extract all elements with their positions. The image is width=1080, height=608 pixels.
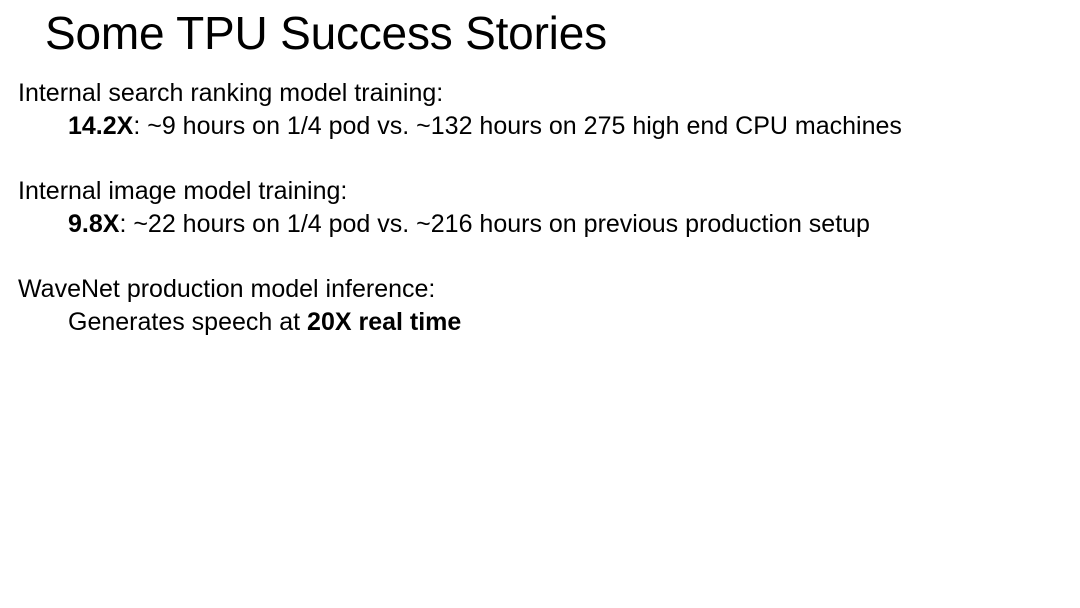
block-2-detail-text: : ~22 hours on 1/4 pod vs. ~216 hours on… [119, 210, 870, 238]
page-title: Some TPU Success Stories [45, 6, 607, 60]
slide-canvas: Some TPU Success Stories Internal search… [0, 0, 1080, 608]
block-2-detail-line: 9.8X: ~22 hours on 1/4 pod vs. ~216 hour… [68, 208, 1058, 241]
block-1-detail-text: : ~9 hours on 1/4 pod vs. ~132 hours on … [133, 112, 902, 140]
success-story-block-1: Internal search ranking model training: … [18, 77, 1058, 143]
block-2-lead-text: Internal image model training: [18, 175, 1058, 208]
block-3-detail-line: Generates speech at 20X real time [68, 306, 1058, 339]
block-3-lead-text: WaveNet production model inference: [18, 273, 1058, 306]
block-2-speedup-value: 9.8X [68, 210, 119, 238]
block-3-speedup-value: 20X real time [307, 308, 461, 336]
block-1-detail-line: 14.2X: ~9 hours on 1/4 pod vs. ~132 hour… [68, 110, 1058, 143]
block-1-speedup-value: 14.2X [68, 112, 133, 140]
block-3-detail-text: Generates speech at [68, 308, 307, 336]
success-story-block-2: Internal image model training: 9.8X: ~22… [18, 175, 1058, 241]
success-story-block-3: WaveNet production model inference: Gene… [18, 273, 1058, 339]
block-1-lead-text: Internal search ranking model training: [18, 77, 1058, 110]
